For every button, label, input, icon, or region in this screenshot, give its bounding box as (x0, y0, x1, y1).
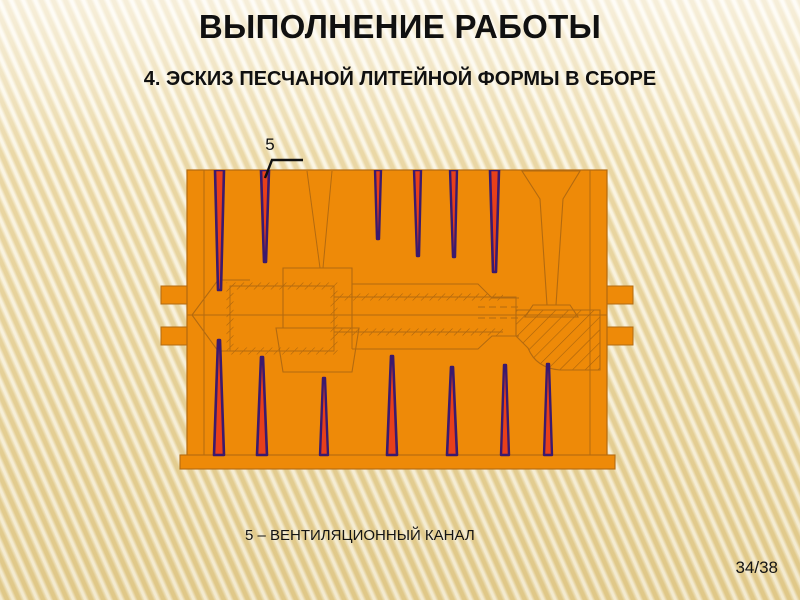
page-title: ВЫПОЛНЕНИЕ РАБОТЫ (0, 8, 800, 46)
mould-assembly-drawing: 5 (161, 135, 633, 469)
vent-channel (215, 170, 224, 290)
vent-channel (490, 170, 499, 272)
figure-caption: 5 – ВЕНТИЛЯЦИОННЫЙ КАНАЛ (245, 527, 475, 544)
right-ear-lower (605, 327, 633, 345)
callout-label-5: 5 (265, 135, 274, 154)
right-ear-upper (605, 286, 633, 304)
vent-channel (375, 170, 381, 239)
page-subtitle: 4. ЭСКИЗ ПЕСЧАНОЙ ЛИТЕЙНОЙ ФОРМЫ В СБОРЕ (0, 68, 800, 91)
left-ear-lower (161, 327, 189, 345)
slide-canvas: ВЫПОЛНЕНИЕ РАБОТЫ 4. ЭСКИЗ ПЕСЧАНОЙ ЛИТЕ… (0, 0, 800, 600)
flask-base-bar (180, 455, 615, 469)
left-ear-upper (161, 286, 189, 304)
page-number: 34/38 (735, 558, 778, 578)
